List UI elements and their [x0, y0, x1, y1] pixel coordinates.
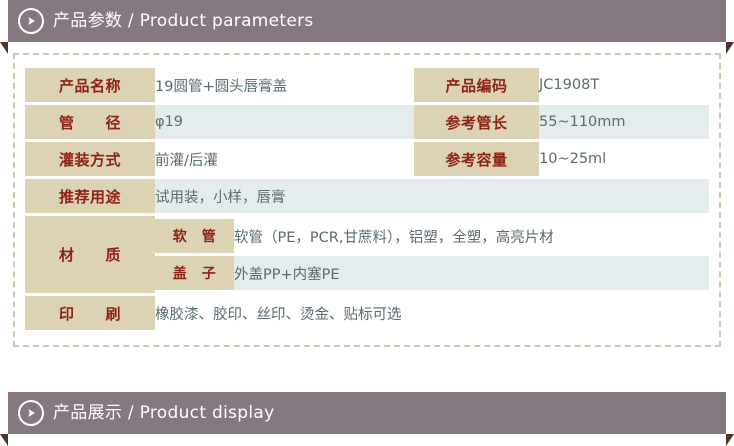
param-label-filling-method: 灌装方式	[25, 142, 155, 176]
param-value-filling-method: 前灌/后灌	[155, 142, 400, 176]
material-sub-row: 软 管 软管（PE，PCR,甘蔗料），铝塑，全塑，高亮片材	[155, 219, 709, 253]
param-value-product-code: JC1908T	[539, 68, 709, 102]
table-row: 推荐用途 试用装，小样，唇膏	[25, 179, 709, 213]
param-label-material: 材 质	[25, 216, 155, 293]
material-subtable-cell: 软 管 软管（PE，PCR,甘蔗料），铝塑，全塑，高亮片材 盖 子 外盖PP+内…	[155, 216, 709, 293]
table-row: 产品名称 19圆管+圆头唇膏盖 产品编码 JC1908T	[25, 68, 709, 102]
param-label-reference-capacity: 参考容量	[414, 142, 539, 176]
banner-bar: 产品展示 / Product display	[8, 392, 726, 434]
play-circle-icon	[18, 8, 44, 34]
ribbon-fold-right	[726, 42, 734, 54]
param-value-recommended-use: 试用装，小样，唇膏	[155, 179, 709, 213]
product-parameters-table-frame: 产品名称 19圆管+圆头唇膏盖 产品编码 JC1908T 管 径 φ19 参考管…	[13, 53, 721, 347]
table-row: 管 径 φ19 参考管长 55~110mm	[25, 105, 709, 139]
param-label-printing: 印 刷	[25, 296, 155, 330]
ribbon-fold-left	[0, 434, 8, 446]
column-gap	[400, 68, 414, 102]
table-row-material: 材 质 软 管 软管（PE，PCR,甘蔗料），铝塑，全塑，高亮片材 盖 子 外盖…	[25, 216, 709, 293]
play-circle-icon	[18, 400, 44, 426]
product-parameters-table: 产品名称 19圆管+圆头唇膏盖 产品编码 JC1908T 管 径 φ19 参考管…	[25, 65, 709, 333]
param-label-recommended-use: 推荐用途	[25, 179, 155, 213]
param-value-printing: 橡胶漆、胶印、丝印、烫金、贴标可选	[155, 296, 709, 330]
product-parameters-banner: 产品参数 / Product parameters	[0, 0, 734, 42]
banner-bar: 产品参数 / Product parameters	[8, 0, 726, 42]
table-row: 灌装方式 前灌/后灌 参考容量 10~25ml	[25, 142, 709, 176]
param-value-tube-diameter: φ19	[155, 105, 400, 139]
param-value-material-cap: 外盖PP+内塞PE	[234, 256, 709, 290]
param-value-material-tube: 软管（PE，PCR,甘蔗料），铝塑，全塑，高亮片材	[234, 219, 709, 253]
param-label-material-cap: 盖 子	[155, 256, 234, 290]
ribbon-fold-left	[0, 42, 8, 54]
banner-title: 产品参数 / Product parameters	[53, 13, 314, 30]
table-row: 印 刷 橡胶漆、胶印、丝印、烫金、贴标可选	[25, 296, 709, 330]
column-gap	[400, 105, 414, 139]
material-subtable: 软 管 软管（PE，PCR,甘蔗料），铝塑，全塑，高亮片材 盖 子 外盖PP+内…	[155, 216, 709, 293]
param-label-reference-length: 参考管长	[414, 105, 539, 139]
param-label-product-code: 产品编码	[414, 68, 539, 102]
param-label-tube-diameter: 管 径	[25, 105, 155, 139]
product-display-banner: 产品展示 / Product display	[0, 392, 734, 434]
banner-title: 产品展示 / Product display	[53, 405, 274, 422]
param-value-reference-length: 55~110mm	[539, 105, 709, 139]
param-value-product-name: 19圆管+圆头唇膏盖	[155, 68, 400, 102]
ribbon-fold-right	[726, 434, 734, 446]
column-gap	[400, 142, 414, 176]
param-value-reference-capacity: 10~25ml	[539, 142, 709, 176]
param-label-product-name: 产品名称	[25, 68, 155, 102]
material-sub-row: 盖 子 外盖PP+内塞PE	[155, 256, 709, 290]
param-label-material-tube: 软 管	[155, 219, 234, 253]
